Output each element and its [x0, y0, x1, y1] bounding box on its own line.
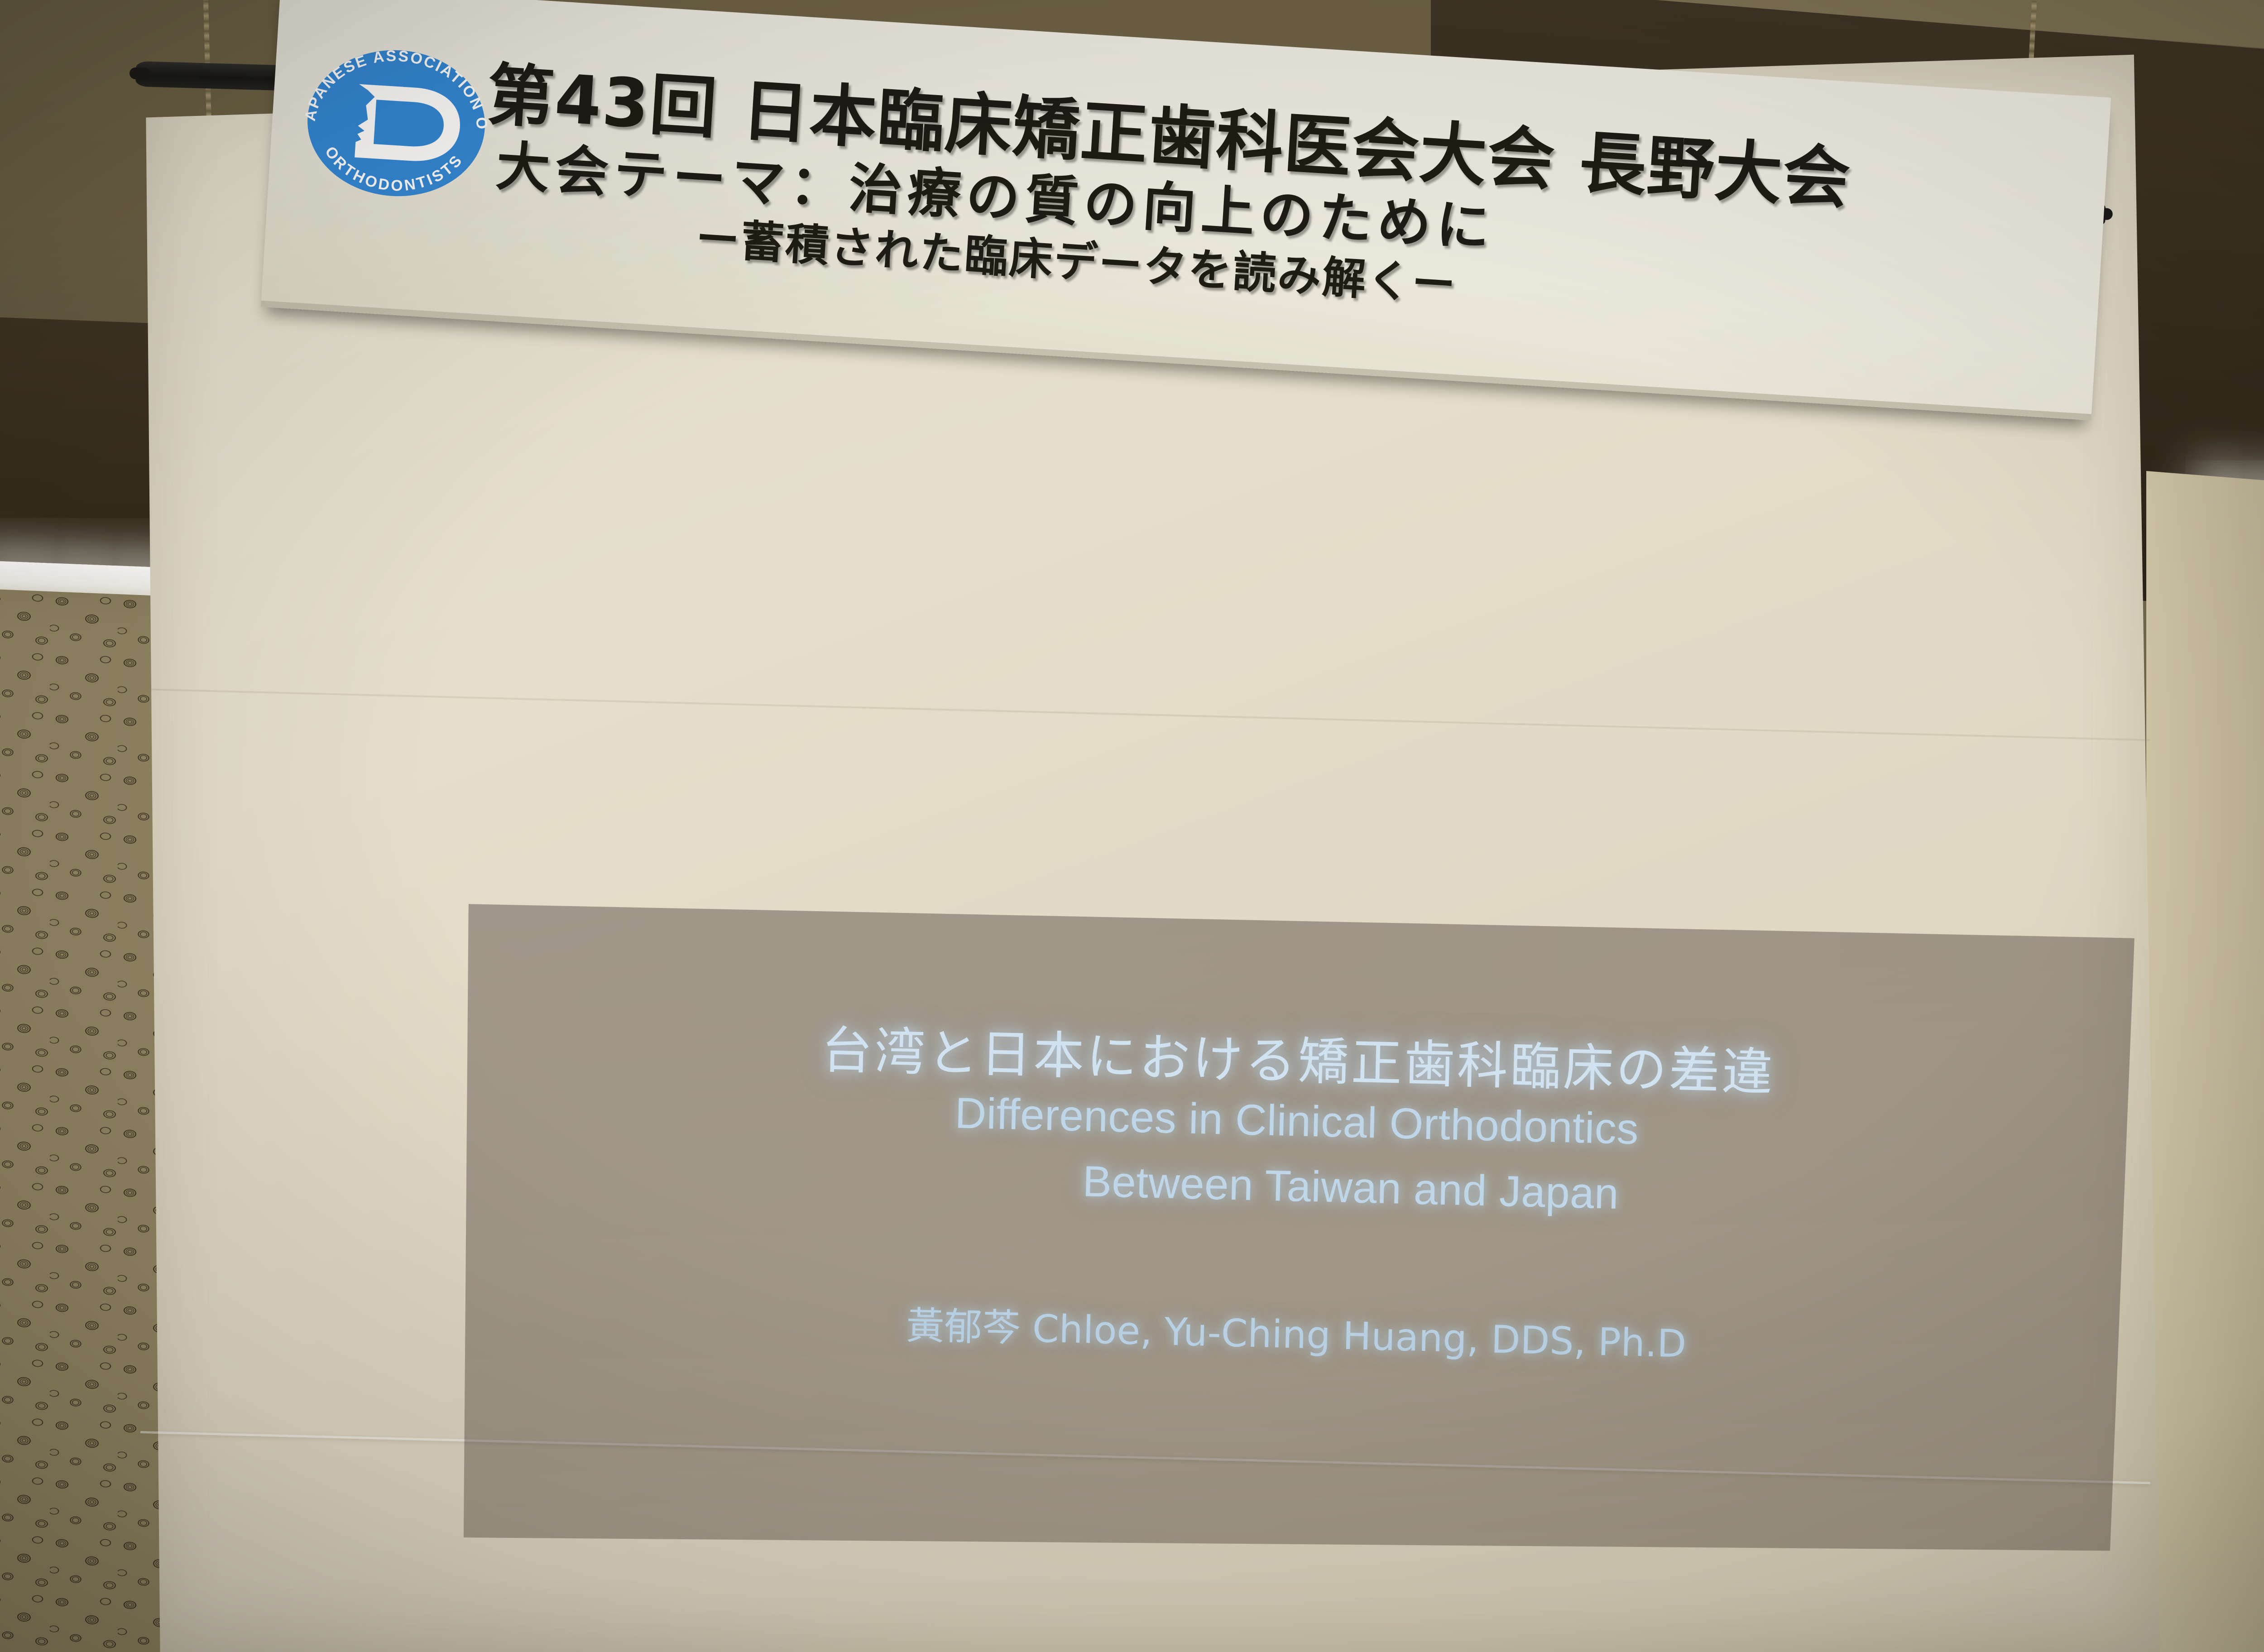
jao-profile-d-logo: JAPANESE ASSOCIATION OF ORTHODONTISTS	[294, 42, 498, 205]
plain-wall-right	[2146, 471, 2264, 1652]
roller-cap-left	[130, 67, 151, 80]
photo-scene: 台湾と日本における矯正歯科臨床の差違 Differences in Clinic…	[0, 0, 2264, 1652]
projected-slide-area	[454, 899, 2134, 1576]
